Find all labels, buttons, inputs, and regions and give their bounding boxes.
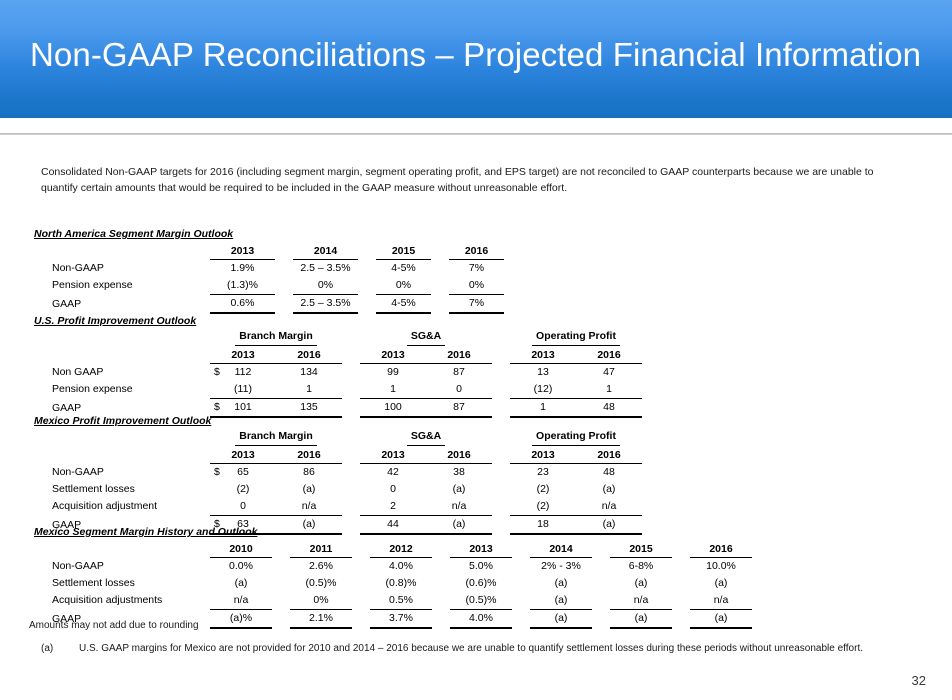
year-header: 2013 <box>210 446 276 463</box>
table-cell: 4-5% <box>376 259 431 277</box>
table-cell: (0.5)% <box>450 592 512 610</box>
column-gap <box>431 242 449 259</box>
table-cell: 6-8% <box>610 557 672 575</box>
header-spacer <box>34 540 210 557</box>
table-cell: (2) <box>510 498 576 516</box>
table-cell: 2.5 – 3.5% <box>293 259 358 277</box>
row-label: GAAP <box>34 398 210 417</box>
section-us-profit: U.S. Profit Improvement Outlook Branch M… <box>34 315 642 418</box>
column-gap <box>512 540 530 557</box>
year-header: 2015 <box>376 242 431 259</box>
table-cell: 0.0% <box>210 557 272 575</box>
column-gap <box>342 381 360 399</box>
header-spacer <box>34 429 210 446</box>
column-gap <box>352 575 370 592</box>
table-cell: 100 <box>360 398 426 417</box>
column-gap <box>275 294 293 313</box>
table-cell: 7% <box>449 259 504 277</box>
column-gap <box>272 540 290 557</box>
table-row: Non-GAAP $65 86 42 38 23 48 <box>34 463 642 481</box>
column-gap <box>342 429 360 446</box>
row-label: Acquisition adjustment <box>34 498 210 516</box>
header-spacer <box>34 242 210 259</box>
year-header: 2013 <box>360 446 426 463</box>
column-gap <box>342 463 360 481</box>
table-cell: (0.6)% <box>450 575 512 592</box>
table-header-row: 2013 2016 2013 2016 2013 2016 <box>34 446 642 463</box>
column-gap <box>492 346 510 363</box>
table-cell: 1 <box>360 381 426 399</box>
column-gap <box>592 609 610 628</box>
table-cell: 4-5% <box>376 294 431 313</box>
column-gap <box>342 398 360 417</box>
column-gap <box>432 557 450 575</box>
column-gap <box>342 446 360 463</box>
currency-symbol: $ <box>214 464 220 481</box>
table-row: Non GAAP $112 134 99 87 13 47 <box>34 363 642 381</box>
table-cell: 1 <box>576 381 642 399</box>
table-cell: n/a <box>276 498 342 516</box>
table-cell: (a) <box>530 592 592 610</box>
currency-symbol: $ <box>214 364 220 381</box>
table-row: GAAP 0.6% 2.5 – 3.5% 4-5% 7% <box>34 294 504 313</box>
column-gap <box>352 609 370 628</box>
column-gap <box>358 277 376 295</box>
footnote-text: U.S. GAAP margins for Mexico are not pro… <box>79 641 909 656</box>
table-cell: 0 <box>426 381 492 399</box>
table-cell: $101 <box>210 398 276 417</box>
group-header-sga: SG&A <box>360 329 492 346</box>
column-gap <box>492 463 510 481</box>
section-north-america: North America Segment Margin Outlook 201… <box>34 228 504 314</box>
cell-value: 65 <box>237 466 249 478</box>
column-gap <box>272 575 290 592</box>
table-cell: 135 <box>276 398 342 417</box>
column-gap <box>512 609 530 628</box>
table-cell: (12) <box>510 381 576 399</box>
column-gap <box>492 329 510 346</box>
table-cell: 2.6% <box>290 557 352 575</box>
column-gap <box>432 592 450 610</box>
table-cell: 10.0% <box>690 557 752 575</box>
table-cell: 48 <box>576 398 642 417</box>
column-gap <box>272 557 290 575</box>
column-gap <box>342 481 360 498</box>
column-gap <box>272 592 290 610</box>
row-label: GAAP <box>34 294 210 313</box>
table-cell: (a) <box>610 575 672 592</box>
column-gap <box>672 575 690 592</box>
column-gap <box>275 259 293 277</box>
table-cell: (0.8)% <box>370 575 432 592</box>
table-cell: (a) <box>690 575 752 592</box>
year-header: 2016 <box>276 446 342 463</box>
table-cell: 1 <box>276 381 342 399</box>
table-row: Settlement losses (a) (0.5)% (0.8)% (0.6… <box>34 575 752 592</box>
column-gap <box>592 540 610 557</box>
table-cell: n/a <box>426 498 492 516</box>
year-header: 2013 <box>510 346 576 363</box>
table-cell: $65 <box>210 463 276 481</box>
section-heading-mexico-profit: Mexico Profit Improvement Outlook <box>34 415 642 427</box>
table-cell: 0% <box>449 277 504 295</box>
column-gap <box>352 557 370 575</box>
table-cell: n/a <box>690 592 752 610</box>
table-cell: (a) <box>530 609 592 628</box>
row-label: Acquisition adjustments <box>34 592 210 610</box>
column-gap <box>672 540 690 557</box>
column-gap <box>592 575 610 592</box>
group-header-branch-margin: Branch Margin <box>210 429 342 446</box>
group-header-sga: SG&A <box>360 429 492 446</box>
table-cell: 0.5% <box>370 592 432 610</box>
table-row: Non-GAAP 1.9% 2.5 – 3.5% 4-5% 7% <box>34 259 504 277</box>
table-cell: n/a <box>576 498 642 516</box>
cell-value: 112 <box>235 366 252 378</box>
table-cell: 0% <box>376 277 431 295</box>
section-heading-us-profit: U.S. Profit Improvement Outlook <box>34 315 642 327</box>
table-row: Acquisition adjustments n/a 0% 0.5% (0.5… <box>34 592 752 610</box>
table-cell: 47 <box>576 363 642 381</box>
year-header: 2016 <box>576 446 642 463</box>
group-header-branch-margin: Branch Margin <box>210 329 342 346</box>
year-header: 2016 <box>449 242 504 259</box>
table-cell: 87 <box>426 363 492 381</box>
column-gap <box>272 609 290 628</box>
page-title: Non-GAAP Reconciliations – Projected Fin… <box>30 36 921 74</box>
table-cell: 2.1% <box>290 609 352 628</box>
table-cell: 5.0% <box>450 557 512 575</box>
group-header-label: Branch Margin <box>235 329 317 346</box>
year-header: 2013 <box>210 346 276 363</box>
table-cell: 99 <box>360 363 426 381</box>
column-gap <box>672 557 690 575</box>
column-gap <box>492 398 510 417</box>
table-row: Pension expense (1.3)% 0% 0% 0% <box>34 277 504 295</box>
year-header: 2015 <box>610 540 672 557</box>
year-header: 2010 <box>210 540 272 557</box>
column-gap <box>592 592 610 610</box>
table-cell: 4.0% <box>370 557 432 575</box>
column-gap <box>672 592 690 610</box>
table-row: Pension expense (11) 1 1 0 (12) 1 <box>34 381 642 399</box>
cell-value: 101 <box>234 401 252 413</box>
column-gap <box>358 259 376 277</box>
row-label: Non-GAAP <box>34 557 210 575</box>
column-gap <box>492 363 510 381</box>
table-header-row: 2010 2011 2012 2013 2014 2015 2016 <box>34 540 752 557</box>
table-cell: 0% <box>290 592 352 610</box>
section-heading-mexico-margin: Mexico Segment Margin History and Outloo… <box>34 526 752 538</box>
year-header: 2013 <box>510 446 576 463</box>
section-heading-north-america: North America Segment Margin Outlook <box>34 228 504 240</box>
column-gap <box>492 429 510 446</box>
year-header: 2016 <box>426 446 492 463</box>
row-label: Pension expense <box>34 277 210 295</box>
column-gap <box>342 498 360 516</box>
table-cell: 23 <box>510 463 576 481</box>
year-header: 2016 <box>426 346 492 363</box>
table-cell: 7% <box>449 294 504 313</box>
year-header: 2014 <box>530 540 592 557</box>
table-cell: (11) <box>210 381 276 399</box>
section-mexico-margin: Mexico Segment Margin History and Outloo… <box>34 526 752 629</box>
table-row: Acquisition adjustment 0 n/a 2 n/a (2) n… <box>34 498 642 516</box>
footnote-marker: (a) <box>41 641 79 656</box>
table-cell: 0 <box>360 481 426 498</box>
row-label: Settlement losses <box>34 575 210 592</box>
column-gap <box>275 242 293 259</box>
column-gap <box>342 329 360 346</box>
column-gap <box>432 609 450 628</box>
page-number: 32 <box>912 673 926 688</box>
table-cell: 1.9% <box>210 259 275 277</box>
table-header-row: 2013 2016 2013 2016 2013 2016 <box>34 346 642 363</box>
table-cell: 4.0% <box>450 609 512 628</box>
group-header-row: Branch Margin SG&A Operating Profit <box>34 429 642 446</box>
table-cell: 2.5 – 3.5% <box>293 294 358 313</box>
group-header-label: Operating Profit <box>532 429 620 446</box>
header-spacer <box>34 346 210 363</box>
year-header: 2014 <box>293 242 358 259</box>
table-cell: 42 <box>360 463 426 481</box>
year-header: 2016 <box>576 346 642 363</box>
column-gap <box>432 575 450 592</box>
header-spacer <box>34 446 210 463</box>
column-gap <box>492 481 510 498</box>
year-header: 2012 <box>370 540 432 557</box>
table-north-america: 2013 2014 2015 2016 Non-GAAP 1.9% 2.5 – … <box>34 242 504 314</box>
row-label: Settlement losses <box>34 481 210 498</box>
table-cell: 86 <box>276 463 342 481</box>
table-cell: 48 <box>576 463 642 481</box>
column-gap <box>431 294 449 313</box>
column-gap <box>342 346 360 363</box>
year-header: 2013 <box>360 346 426 363</box>
table-us-profit: Branch Margin SG&A Operating Profit 2013… <box>34 329 642 418</box>
table-cell: (a) <box>530 575 592 592</box>
table-cell: (a) <box>210 575 272 592</box>
table-cell: 1 <box>510 398 576 417</box>
column-gap <box>492 446 510 463</box>
column-gap <box>275 277 293 295</box>
table-cell: 2% - 3% <box>530 557 592 575</box>
table-cell: (2) <box>510 481 576 498</box>
table-cell: n/a <box>610 592 672 610</box>
row-label: Non GAAP <box>34 363 210 381</box>
column-gap <box>512 592 530 610</box>
table-cell: 2 <box>360 498 426 516</box>
group-header-label: SG&A <box>407 429 445 446</box>
group-header-operating-profit: Operating Profit <box>510 329 642 346</box>
table-cell: (2) <box>210 481 276 498</box>
year-header: 2011 <box>290 540 352 557</box>
table-cell: 0.6% <box>210 294 275 313</box>
slide-header-banner: Non-GAAP Reconciliations – Projected Fin… <box>0 0 952 118</box>
column-gap <box>672 609 690 628</box>
table-row: Settlement losses (2) (a) 0 (a) (2) (a) <box>34 481 642 498</box>
table-cell: (1.3)% <box>210 277 275 295</box>
footnote-a: (a) U.S. GAAP margins for Mexico are not… <box>41 641 909 656</box>
table-cell: 0 <box>210 498 276 516</box>
group-header-label: Branch Margin <box>235 429 317 446</box>
table-cell: (a) <box>276 481 342 498</box>
column-gap <box>492 381 510 399</box>
section-mexico-profit: Mexico Profit Improvement Outlook Branch… <box>34 415 642 535</box>
table-cell: (a) <box>576 481 642 498</box>
column-gap <box>358 294 376 313</box>
table-cell: (a) <box>426 481 492 498</box>
group-header-label: Operating Profit <box>532 329 620 346</box>
table-cell: $112 <box>210 363 276 381</box>
header-divider <box>0 133 952 135</box>
year-header: 2016 <box>690 540 752 557</box>
year-header: 2013 <box>210 242 275 259</box>
column-gap <box>431 259 449 277</box>
year-header: 2013 <box>450 540 512 557</box>
column-gap <box>431 277 449 295</box>
table-cell: 38 <box>426 463 492 481</box>
column-gap <box>352 540 370 557</box>
year-header: 2016 <box>276 346 342 363</box>
column-gap <box>432 540 450 557</box>
column-gap <box>512 557 530 575</box>
row-label: Pension expense <box>34 381 210 399</box>
table-mexico-profit: Branch Margin SG&A Operating Profit 2013… <box>34 429 642 535</box>
table-cell: (a) <box>610 609 672 628</box>
currency-symbol: $ <box>214 399 220 416</box>
table-cell: 0% <box>293 277 358 295</box>
group-header-row: Branch Margin SG&A Operating Profit <box>34 329 642 346</box>
table-cell: n/a <box>210 592 272 610</box>
table-header-row: 2013 2014 2015 2016 <box>34 242 504 259</box>
table-cell: (0.5)% <box>290 575 352 592</box>
intro-paragraph: Consolidated Non-GAAP targets for 2016 (… <box>41 164 907 196</box>
table-cell: 134 <box>276 363 342 381</box>
row-label: Non-GAAP <box>34 259 210 277</box>
rounding-note: Amounts may not add due to rounding <box>29 620 199 631</box>
column-gap <box>512 575 530 592</box>
table-cell: 13 <box>510 363 576 381</box>
header-spacer <box>34 329 210 346</box>
table-cell: (a) <box>690 609 752 628</box>
column-gap <box>342 363 360 381</box>
table-cell: (a)% <box>210 609 272 628</box>
column-gap <box>492 498 510 516</box>
column-gap <box>358 242 376 259</box>
column-gap <box>592 557 610 575</box>
column-gap <box>352 592 370 610</box>
table-cell: 3.7% <box>370 609 432 628</box>
group-header-operating-profit: Operating Profit <box>510 429 642 446</box>
group-header-label: SG&A <box>407 329 445 346</box>
row-label: Non-GAAP <box>34 463 210 481</box>
table-cell: 87 <box>426 398 492 417</box>
table-row: Non-GAAP 0.0% 2.6% 4.0% 5.0% 2% - 3% 6-8… <box>34 557 752 575</box>
table-mexico-margin: 2010 2011 2012 2013 2014 2015 2016 Non-G… <box>34 540 752 629</box>
table-row: GAAP $101 135 100 87 1 48 <box>34 398 642 417</box>
